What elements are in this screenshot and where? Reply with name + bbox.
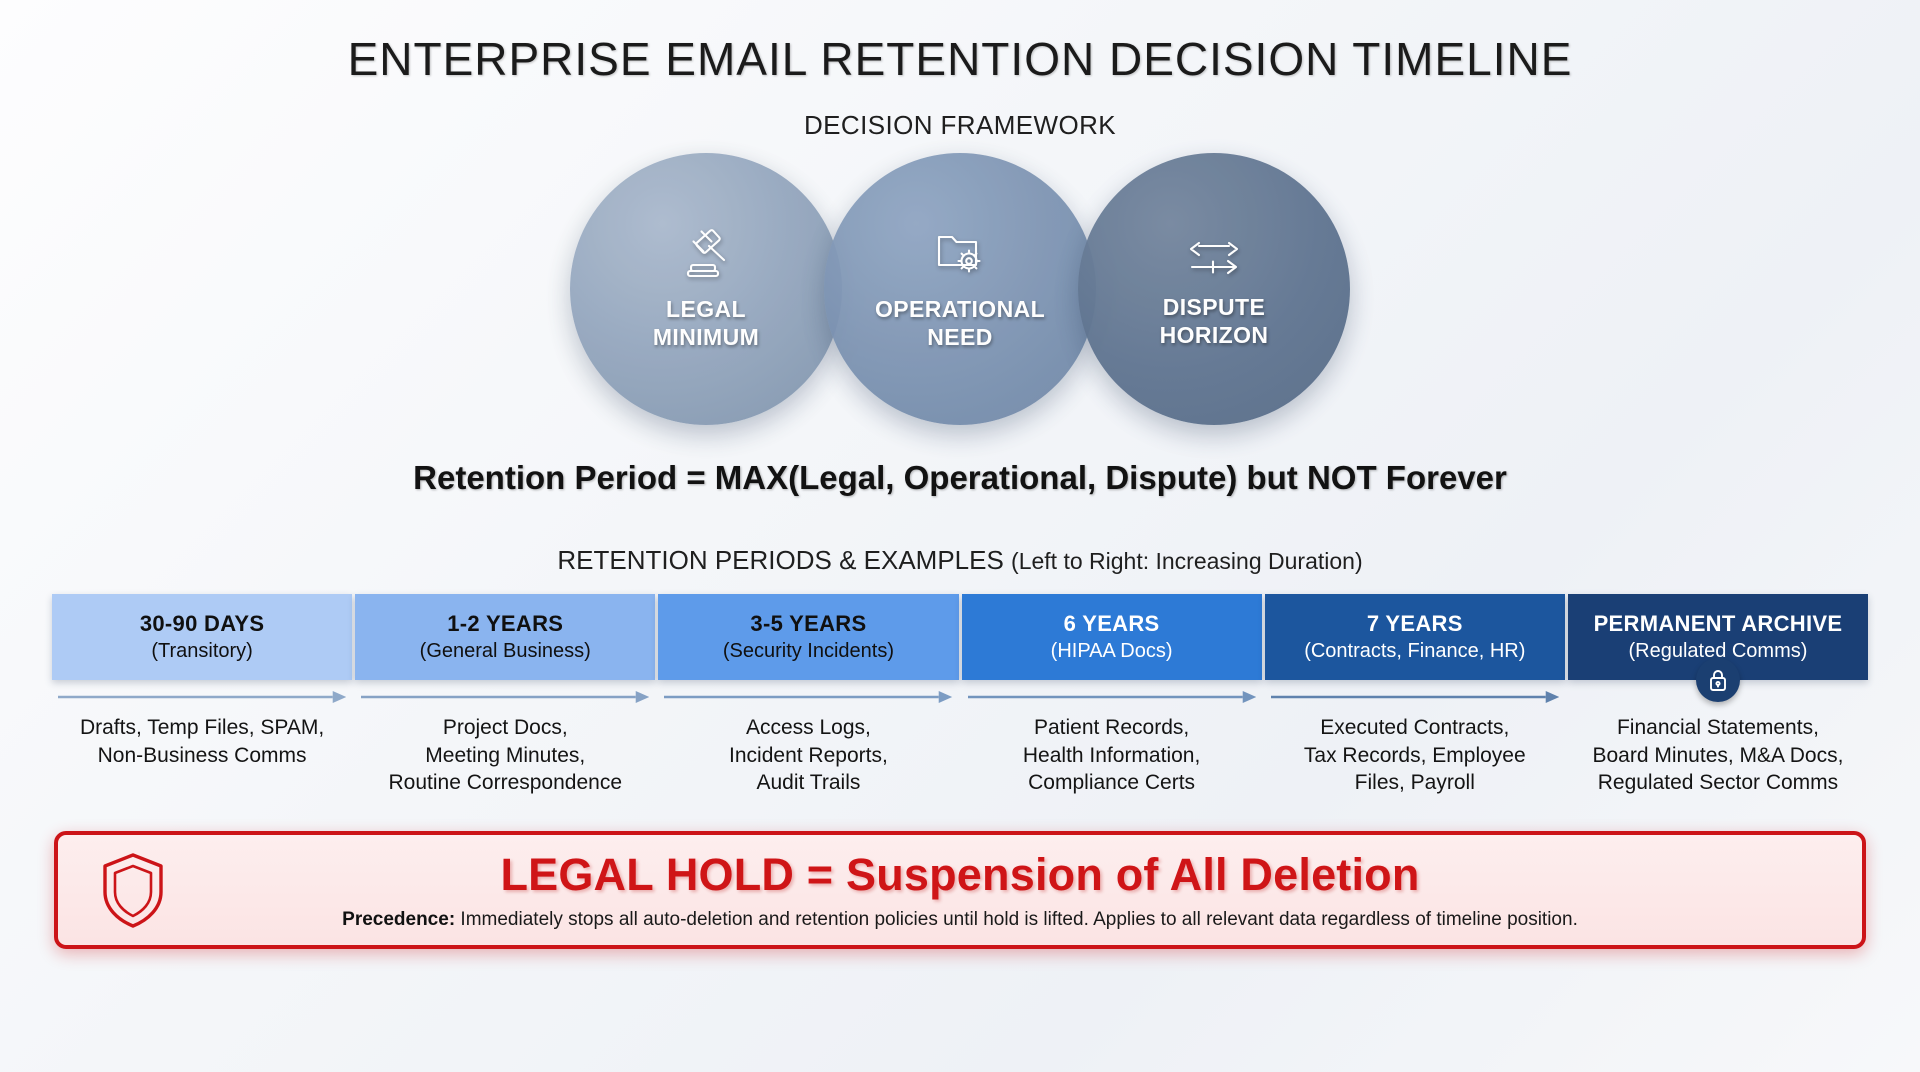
timeline-segment[interactable]: 1-2 YEARS (General Business) [355,594,655,680]
segment-qualifier: (HIPAA Docs) [1051,640,1173,663]
segment-examples: Financial Statements,Board Minutes, M&A … [1568,714,1868,797]
timeline-heading-sub: (Left to Right: Increasing Duration) [1011,548,1363,574]
framework-circle-label: DISPUTE HORIZON [1160,294,1269,348]
timeline-segment[interactable]: 3-5 YEARS (Security Incidents) [658,594,958,680]
framework-circle-legal-minimum[interactable]: LEGAL MINIMUM [570,153,842,425]
framework-circle-operational-need[interactable]: OPERATIONAL NEED [824,153,1096,425]
framework-circle-label: OPERATIONAL NEED [875,296,1045,350]
segment-qualifier: (General Business) [420,640,591,663]
page-title: ENTERPRISE EMAIL RETENTION DECISION TIME… [0,0,1920,86]
retention-timeline-bar: 30-90 DAYS (Transitory) 1-2 YEARS (Gener… [52,594,1868,680]
segment-examples: Project Docs,Meeting Minutes,Routine Cor… [355,714,655,797]
timeline-heading-main: RETENTION PERIODS & EXAMPLES [557,545,1003,575]
timeline-heading: RETENTION PERIODS & EXAMPLES (Left to Ri… [0,545,1920,576]
framework-circle-dispute-horizon[interactable]: DISPUTE HORIZON [1078,153,1350,425]
timeline-segment[interactable]: 6 YEARS (HIPAA Docs) [962,594,1262,680]
progression-arrow [658,680,958,714]
lock-icon [1696,658,1740,702]
segment-period: 6 YEARS [1064,611,1160,637]
legal-hold-note: Precedence: Immediately stops all auto-d… [208,909,1712,931]
progression-arrow [962,680,1262,714]
retention-formula: Retention Period = MAX(Legal, Operationa… [0,459,1920,497]
double-arrow-icon [1183,229,1245,282]
timeline-examples-row: Drafts, Temp Files, SPAM,Non-Business Co… [52,714,1868,797]
progression-arrow [355,680,655,714]
timeline-segment[interactable]: 7 YEARS (Contracts, Finance, HR) [1265,594,1565,680]
segment-qualifier: (Transitory) [151,640,252,663]
segment-examples: Patient Records,Health Information,Compl… [962,714,1262,797]
segment-period: 1-2 YEARS [447,611,563,637]
shield-icon [58,850,208,930]
timeline-segment[interactable]: 30-90 DAYS (Transitory) [52,594,352,680]
timeline-segment[interactable]: PERMANENT ARCHIVE (Regulated Comms) [1568,594,1868,680]
segment-period: 30-90 DAYS [140,611,264,637]
decision-framework-venn: LEGAL MINIMUM [570,153,1350,425]
legal-hold-note-label: Precedence: [342,909,455,930]
decision-framework-label: DECISION FRAMEWORK [0,110,1920,141]
segment-qualifier: (Security Incidents) [723,640,894,663]
progression-arrow [1265,680,1565,714]
segment-examples: Executed Contracts,Tax Records, Employee… [1265,714,1565,797]
timeline-arrow-row [52,680,1868,714]
legal-hold-title: LEGAL HOLD = Suspension of All Deletion [208,849,1712,901]
framework-circle-label: LEGAL MINIMUM [653,296,759,350]
segment-qualifier: (Contracts, Finance, HR) [1304,640,1525,663]
legal-hold-body: LEGAL HOLD = Suspension of All Deletion … [208,849,1862,931]
gavel-icon [677,227,735,284]
folder-gear-icon [931,227,989,284]
segment-period: 7 YEARS [1367,611,1463,637]
segment-period: 3-5 YEARS [750,611,866,637]
legal-hold-banner: LEGAL HOLD = Suspension of All Deletion … [54,831,1866,949]
progression-arrow [52,680,352,714]
legal-hold-note-text: Immediately stops all auto-deletion and … [455,909,1578,930]
segment-period: PERMANENT ARCHIVE [1594,611,1843,637]
segment-examples: Access Logs,Incident Reports,Audit Trail… [658,714,958,797]
segment-examples: Drafts, Temp Files, SPAM,Non-Business Co… [52,714,352,797]
